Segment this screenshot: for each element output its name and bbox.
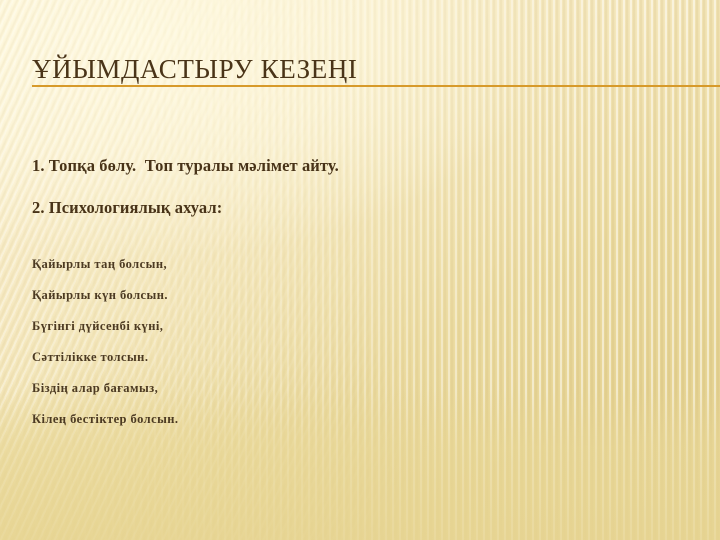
slide-title-block: ҰЙЫМДАСТЫРУ КЕЗЕҢІ	[0, 52, 720, 96]
agenda-item-2: 2. Психологиялық ахуал:	[32, 198, 672, 218]
poem-line: Қайырлы таң болсын,	[32, 256, 632, 287]
poem-line: Кілең бестіктер болсын.	[32, 411, 632, 442]
poem-line: Сәттілікке толсын.	[32, 349, 632, 380]
poem-line: Біздің алар бағамыз,	[32, 380, 632, 411]
agenda-list: 1. Топқа бөлу. Топ туралы мәлімет айту. …	[32, 156, 672, 218]
agenda-item-1: 1. Топқа бөлу. Топ туралы мәлімет айту.	[32, 156, 672, 176]
poem-block: Қайырлы таң болсын, Қайырлы күн болсын. …	[32, 256, 632, 442]
presentation-slide: ҰЙЫМДАСТЫРУ КЕЗЕҢІ 1. Топқа бөлу. Топ ту…	[0, 0, 720, 540]
poem-line: Бүгінгі дүйсенбі күні,	[32, 318, 632, 349]
title-underline-rule	[32, 85, 720, 87]
slide-content: ҰЙЫМДАСТЫРУ КЕЗЕҢІ 1. Топқа бөлу. Топ ту…	[0, 0, 720, 540]
page-title: ҰЙЫМДАСТЫРУ КЕЗЕҢІ	[32, 52, 358, 86]
poem-line: Қайырлы күн болсын.	[32, 287, 632, 318]
